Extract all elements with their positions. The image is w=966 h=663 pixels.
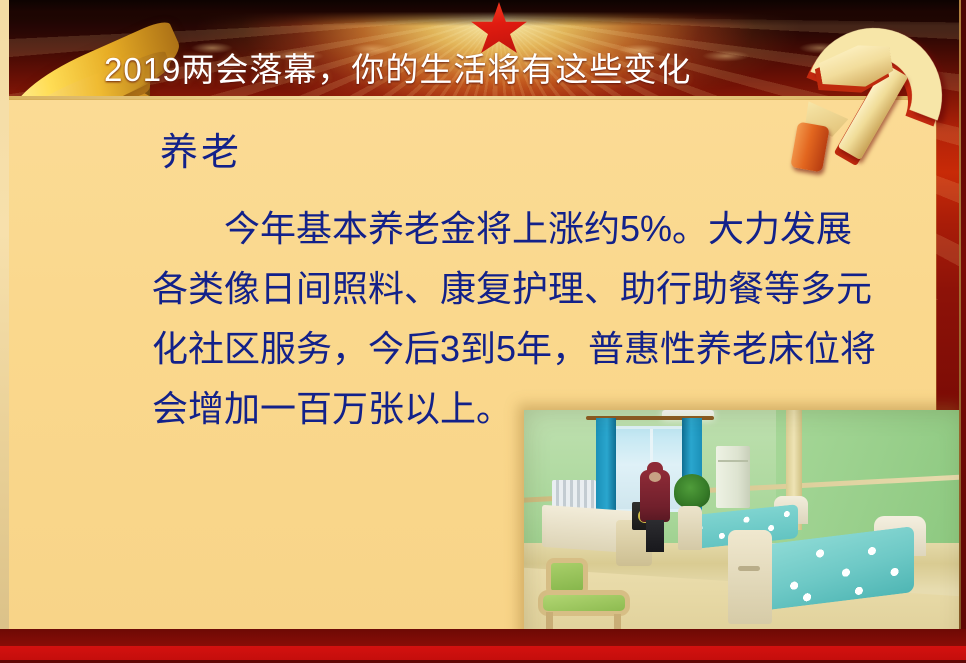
slide-left-border <box>0 0 9 663</box>
photo-cabinet <box>716 446 750 508</box>
photo-bed-front-footboard <box>728 530 772 624</box>
body-line-2: 各类像日间照料、康复护理、助行助餐等多元 <box>152 259 922 319</box>
sickle-handle <box>790 122 830 173</box>
slide-right-gold-line <box>959 0 961 640</box>
photo-bed-back-footboard <box>678 506 702 550</box>
photo-bed-front-quilt <box>752 526 914 612</box>
photo-bed-front <box>732 520 922 626</box>
slide-bottom-red-band <box>0 646 966 661</box>
nursing-home-photo <box>524 410 966 659</box>
slide-bottom-dark-band <box>0 629 966 647</box>
page-title: 2019两会落幕，你的生活将有这些变化 <box>104 47 691 92</box>
photo-person-legs <box>646 520 664 552</box>
photo-person-face <box>649 472 661 482</box>
section-heading: 养老 <box>160 127 242 179</box>
body-line-1: 今年基本养老金将上涨约5%。大力发展 <box>152 199 922 259</box>
hammer-and-sickle-icon <box>786 12 954 180</box>
body-line-3: 化社区服务，今后3到5年，普惠性养老床位将 <box>152 319 922 379</box>
body-paragraph: 今年基本养老金将上涨约5%。大力发展 各类像日间照料、康复护理、助行助餐等多元 … <box>152 199 922 439</box>
photo-armchair <box>538 558 634 632</box>
slide-canvas: 中华人民共和国万岁 世界人民大团结万岁 2019两会落幕，你的生活将有这些变化 … <box>0 0 966 663</box>
